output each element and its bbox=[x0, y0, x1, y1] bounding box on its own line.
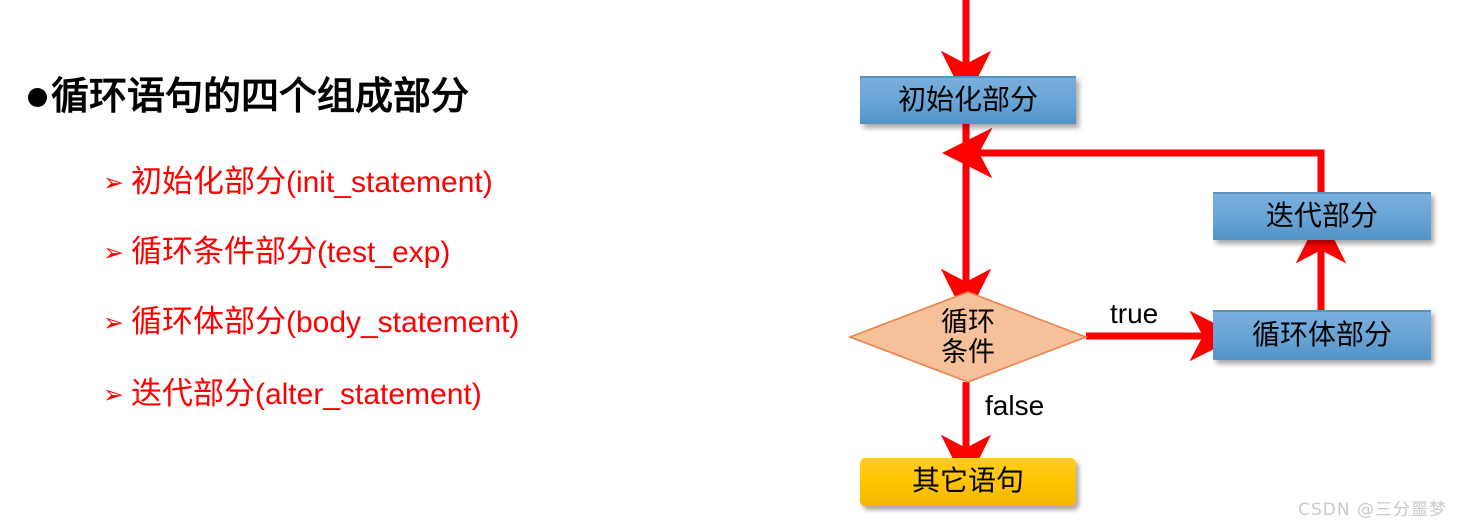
node-cond-line-1: 循环 bbox=[941, 307, 995, 337]
page-title: 循环语句的四个组成部分 bbox=[51, 78, 469, 116]
list-item-latin: (test_exp) bbox=[317, 236, 450, 269]
edge-alter-to-init bbox=[977, 153, 1321, 192]
arrowhead-bullet-icon: ➢ bbox=[103, 382, 124, 407]
arrowhead-bullet-icon: ➢ bbox=[103, 170, 124, 195]
filled-circle-bullet-icon bbox=[28, 88, 47, 107]
list-item-label: 迭代部分(alter_statement) bbox=[131, 378, 482, 410]
list-item-latin: (alter_statement) bbox=[255, 378, 482, 411]
list-item-latin: (body_statement) bbox=[286, 306, 519, 339]
edge-label-false: false bbox=[985, 390, 1044, 422]
list-item-cjk: 循环条件部分 bbox=[131, 234, 317, 269]
edge-label-true: true bbox=[1110, 298, 1158, 330]
list-item-cjk: 迭代部分 bbox=[131, 376, 255, 411]
flowchart: 初始化部分 循环 条件 迭代部分 循环体部分 其它语句 true false bbox=[820, 0, 1461, 528]
list-item-latin: (init_statement) bbox=[286, 166, 493, 199]
watermark: CSDN @三分噩梦 bbox=[1298, 495, 1447, 520]
list-item-label: 初始化部分(init_statement) bbox=[131, 166, 493, 198]
node-init[interactable]: 初始化部分 bbox=[860, 76, 1076, 124]
slide-canvas: 循环语句的四个组成部分 ➢ 初始化部分(init_statement) ➢ 循环… bbox=[0, 0, 1461, 528]
list-item-cjk: 循环体部分 bbox=[131, 304, 286, 339]
list-item-init: ➢ 初始化部分(init_statement) bbox=[103, 166, 493, 198]
list-item-test: ➢ 循环条件部分(test_exp) bbox=[103, 236, 450, 268]
node-cond[interactable]: 循环 条件 bbox=[850, 292, 1086, 382]
list-item-label: 循环条件部分(test_exp) bbox=[131, 236, 450, 268]
node-cond-label: 循环 条件 bbox=[850, 292, 1086, 382]
node-alter[interactable]: 迭代部分 bbox=[1213, 192, 1431, 240]
node-cond-line-2: 条件 bbox=[941, 337, 995, 367]
list-item-cjk: 初始化部分 bbox=[131, 164, 286, 199]
list-item-alter: ➢ 迭代部分(alter_statement) bbox=[103, 378, 482, 410]
list-item-label: 循环体部分(body_statement) bbox=[131, 306, 519, 338]
bullet-list-pane: 循环语句的四个组成部分 ➢ 初始化部分(init_statement) ➢ 循环… bbox=[0, 0, 820, 528]
arrowhead-bullet-icon: ➢ bbox=[103, 310, 124, 335]
heading-row: 循环语句的四个组成部分 bbox=[28, 78, 469, 116]
list-item-body: ➢ 循环体部分(body_statement) bbox=[103, 306, 519, 338]
arrowhead-bullet-icon: ➢ bbox=[103, 240, 124, 265]
node-body[interactable]: 循环体部分 bbox=[1213, 310, 1431, 360]
node-other[interactable]: 其它语句 bbox=[860, 458, 1076, 506]
